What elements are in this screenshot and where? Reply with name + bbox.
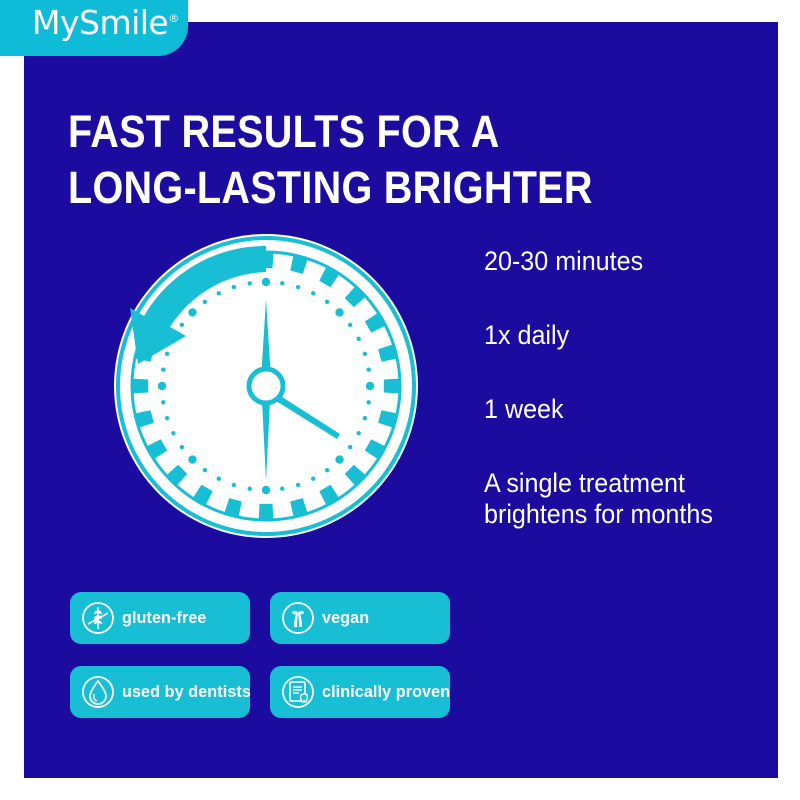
benefit-item: 20-30 minutes [484, 246, 754, 278]
benefit-item: 1 week [484, 394, 754, 426]
badge-clinically-proven[interactable]: clinically proven [270, 666, 450, 718]
badge-label: used by dentists [122, 682, 251, 702]
benefits-list: 20-30 minutes 1x daily 1 week A single t… [484, 246, 774, 531]
brand-wordmark: MySmile® [32, 3, 179, 42]
benefit-item: 1x daily [484, 320, 754, 352]
benefit-item: A single treatment brightens for months [484, 468, 754, 532]
badge-grid: gluten-free vegan used by dentists [70, 592, 470, 718]
badge-gluten-free[interactable]: gluten-free [70, 592, 250, 644]
headline-line-1: FAST RESULTS FOR A [68, 104, 631, 160]
badge-label: vegan [322, 608, 369, 628]
page-title: FAST RESULTS FOR A LONG-LASTING BRIGHTER [68, 104, 631, 217]
wheat-crossed-out-icon [78, 598, 118, 638]
badge-label: gluten-free [122, 608, 207, 628]
brand-name: MySmile [32, 3, 168, 42]
badge-used-by-dentists[interactable]: used by dentists [70, 666, 250, 718]
clipboard-tooth-icon [278, 672, 318, 712]
headline-line-2: LONG-LASTING BRIGHTER [68, 160, 631, 216]
badge-label: clinically proven [322, 682, 450, 702]
registered-trademark-icon: ® [168, 12, 179, 25]
plant-sprout-icon [278, 598, 318, 638]
water-droplet-icon [78, 672, 118, 712]
clock-with-counterclockwise-arrow-icon [108, 228, 424, 544]
clock-illustration [108, 228, 424, 544]
mysmile-logo[interactable]: MySmile® [0, 0, 188, 56]
badge-vegan[interactable]: vegan [270, 592, 450, 644]
poster-canvas: MySmile® FAST RESULTS FOR A LONG-LASTING… [0, 0, 800, 800]
